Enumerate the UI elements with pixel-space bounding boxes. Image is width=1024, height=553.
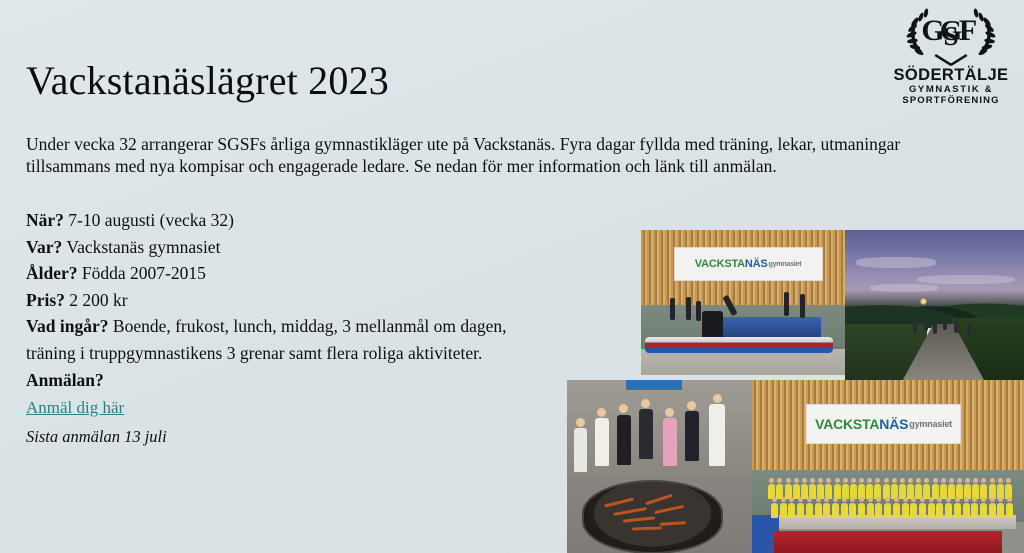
camper-figure: [771, 503, 778, 518]
child-figure: [617, 415, 631, 465]
camper-figure: [858, 503, 865, 518]
gymnast-figure: [670, 298, 675, 320]
detail-label-pris: Pris?: [26, 290, 65, 310]
banner-text-part-b: NÄS: [745, 258, 768, 270]
camper-figure: [841, 503, 848, 518]
camper-figure: [980, 503, 987, 518]
photo-group-photo: VACKSTANÄSgymnasiet: [752, 380, 1024, 553]
photo-sausage-grilling: [567, 380, 752, 553]
camper-figure: [823, 503, 830, 518]
detail-value-pris: 2 200 kr: [69, 290, 127, 310]
camper-figure: [815, 503, 822, 518]
intro-paragraph: Under vecka 32 arrangerar SGSFs årliga g…: [26, 133, 978, 179]
detail-row-alder: Ålder? Födda 2007-2015: [26, 260, 531, 287]
child-head: [641, 399, 650, 408]
camper-figure: [919, 503, 926, 518]
banner-text-part-b: NÄS: [879, 416, 908, 432]
vackstanas-banner: VACKSTANÄSgymnasiet: [806, 404, 960, 444]
gym-vault-table: [702, 311, 722, 339]
camper-figure: [1006, 503, 1013, 518]
child-figure: [709, 404, 725, 466]
camper-figure: [936, 503, 943, 518]
walker-figure: [954, 321, 958, 333]
signup-deadline: Sista anmälan 13 juli: [26, 424, 531, 449]
camper-figure: [788, 503, 795, 518]
banner-text-part-c: gymnasiet: [909, 419, 952, 429]
poster-page: G x G S F SÖDERTÄLJE GYMNASTIK & SPORTFÖ…: [0, 0, 1024, 553]
photo-evening-walk-path: [845, 230, 1024, 381]
gym-blue-mat: [714, 317, 820, 337]
child-figure: [574, 428, 587, 472]
child-head: [665, 408, 674, 417]
camper-figure: [849, 503, 856, 518]
gymnast-figure: [800, 294, 805, 318]
photo-gym-hall-training: VACKSTANÄSgymnasiet: [641, 230, 845, 375]
detail-row-var: Var? Vackstanäs gymnasiet: [26, 234, 531, 261]
sgsf-logo: G x G S F SÖDERTÄLJE GYMNASTIK & SPORTFÖ…: [890, 4, 1012, 107]
camper-figure: [989, 503, 996, 518]
svg-text:F: F: [959, 14, 977, 47]
walker-figure: [933, 322, 937, 334]
camper-figure: [971, 503, 978, 518]
camper-figure: [832, 503, 839, 518]
camper-figure: [780, 503, 787, 518]
walker-figure: [943, 318, 947, 330]
signup-heading: Anmälan?: [26, 370, 104, 390]
camper-figure: [884, 503, 891, 518]
detail-value-nar: 7-10 augusti (vecka 32): [68, 210, 234, 230]
svg-text:G: G: [921, 14, 944, 47]
detail-label-alder: Ålder?: [26, 263, 78, 283]
detail-row-vad-ingar: Vad ingår? Boende, frukost, lunch, midda…: [26, 313, 531, 366]
camper-figure: [928, 503, 935, 518]
walker-figure: [967, 324, 971, 336]
camper-figure: [997, 503, 1004, 518]
camper-figure: [867, 503, 874, 518]
camper-figure: [797, 503, 804, 518]
child-head: [687, 401, 696, 410]
gymnast-figure: [784, 292, 789, 316]
child-figure: [595, 418, 609, 466]
red-carpet: [774, 531, 1002, 553]
camper-figure: [963, 503, 970, 518]
signup-link[interactable]: Anmäl dig här: [26, 395, 124, 421]
detail-label-var: Var?: [26, 237, 62, 257]
camper-figure: [945, 503, 952, 518]
signup-section: Anmälan?: [26, 367, 531, 394]
camper-figure: [875, 503, 882, 518]
cloud-shape: [917, 275, 1015, 284]
child-head: [713, 394, 722, 403]
child-head: [597, 408, 606, 417]
detail-value-var: Vackstanäs gymnasiet: [66, 237, 220, 257]
cloud-shape: [856, 257, 937, 268]
walker-figure: [913, 321, 917, 333]
walker-figure: [924, 319, 928, 331]
child-head: [619, 404, 628, 413]
gym-tumbling-track: [645, 337, 833, 353]
child-figure: [685, 411, 699, 461]
banner-text-part-a: VACKSTA: [695, 258, 745, 270]
vackstanas-banner: VACKSTANÄSgymnasiet: [674, 247, 823, 281]
gymnast-figure: [686, 297, 691, 320]
camper-figure: [893, 503, 900, 518]
banner-text-part-c: gymnasiet: [769, 261, 802, 268]
logo-org-name: SÖDERTÄLJE: [890, 66, 1012, 84]
detail-label-vad-ingar: Vad ingår?: [26, 316, 109, 336]
child-figure: [663, 418, 677, 466]
camper-figure: [806, 503, 813, 518]
banner-text-part-a: VACKSTA: [815, 416, 879, 432]
detail-value-alder: Födda 2007-2015: [82, 263, 206, 283]
laurel-wreath-gsf-icon: G x G S F: [902, 4, 1000, 66]
detail-label-nar: När?: [26, 210, 64, 230]
svg-text:S: S: [943, 21, 958, 51]
logo-org-line3: SPORTFÖRENING: [890, 96, 1012, 107]
camper-figure: [954, 503, 961, 518]
camp-details-list: När? 7-10 augusti (vecka 32) Var? Vackst…: [26, 207, 531, 449]
camper-figure: [902, 503, 909, 518]
child-figure: [639, 409, 653, 459]
camper-figure: [910, 503, 917, 518]
page-title: Vackstanäslägret 2023: [26, 59, 389, 102]
detail-row-nar: När? 7-10 augusti (vecka 32): [26, 207, 531, 234]
gymnast-figure: [696, 301, 701, 321]
detail-row-pris: Pris? 2 200 kr: [26, 287, 531, 314]
blue-tarp: [626, 380, 682, 390]
